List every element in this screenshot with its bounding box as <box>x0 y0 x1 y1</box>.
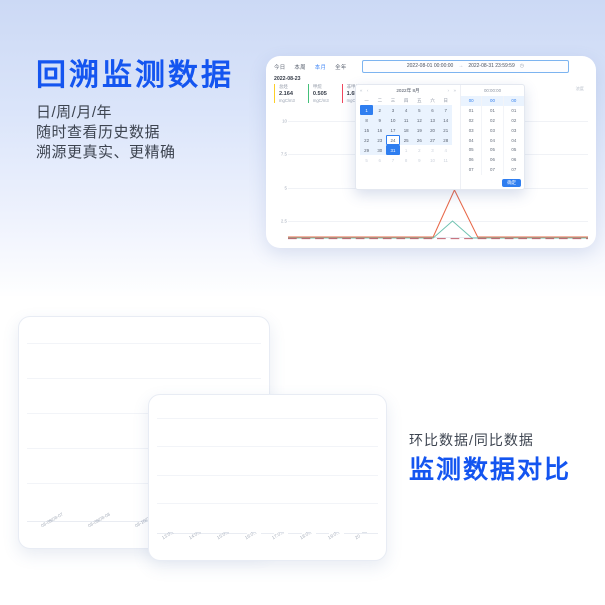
calendar-day-cell[interactable]: 24 <box>386 135 399 145</box>
calendar-week-row: 2930311234 <box>360 145 456 155</box>
calendar-day-cell[interactable]: 2 <box>373 105 386 115</box>
calendar-day-cell[interactable]: 6 <box>426 105 439 115</box>
calendar-weeks: 1234567891011121314151617181920212223242… <box>360 105 456 165</box>
calendar-day-cell[interactable]: 8 <box>400 155 413 165</box>
calendar-week-row: 567891011 <box>360 155 456 165</box>
calendar-day-cell[interactable]: 3 <box>426 145 439 155</box>
current-date-label: 2022-08-23 <box>274 76 301 82</box>
weekday-label: 二 <box>373 96 386 105</box>
calendar-day-cell[interactable]: 14 <box>439 115 452 125</box>
weekday-label: 六 <box>426 96 439 105</box>
bar-plot-b <box>157 405 378 534</box>
metric-name: 甲烷 <box>313 84 329 90</box>
weekday-label: 三 <box>386 96 399 105</box>
calendar-day-cell[interactable]: 15 <box>360 125 373 135</box>
time-option[interactable]: 04 <box>461 135 481 145</box>
y-tick: 5 <box>285 185 287 190</box>
calendar-day-cell[interactable]: 26 <box>413 135 426 145</box>
series-svg <box>288 188 588 240</box>
calendar-week-row: 1234567 <box>360 105 456 115</box>
time-option[interactable]: 05 <box>482 145 502 155</box>
time-option[interactable]: 04 <box>482 135 502 145</box>
chart-legend-note: 浓度 <box>576 86 584 92</box>
calendar-day-cell[interactable]: 1 <box>400 145 413 155</box>
calendar-day-cell[interactable]: 16 <box>373 125 386 135</box>
datetime-picker-popup[interactable]: « ‹ 2022年 8月 › » 一 二 三 四 五 六 日 <box>355 84 525 190</box>
calendar-day-cell[interactable]: 11 <box>439 155 452 165</box>
calendar-day-cell[interactable]: 28 <box>439 135 452 145</box>
hero-line-1: 日/周/月/年 <box>36 103 286 123</box>
next-year-icon[interactable]: » <box>454 88 456 93</box>
second-column[interactable]: 0001020304050607 <box>503 96 524 175</box>
time-option[interactable]: 02 <box>504 116 524 126</box>
y-tick: 2.5 <box>281 218 287 223</box>
calendar-title: 2022年 8月 <box>396 88 419 94</box>
comparison-text-block: 环比数据/同比数据 监测数据对比 <box>409 430 599 486</box>
metric-value: 2.164 <box>279 91 295 97</box>
metric-name: 总烃 <box>279 84 295 90</box>
calendar-day-cell[interactable]: 5 <box>413 105 426 115</box>
calendar-panel: « ‹ 2022年 8月 › » 一 二 三 四 五 六 日 <box>356 85 461 189</box>
plot-gridline <box>27 378 261 379</box>
axis-tick <box>362 532 367 533</box>
calendar-week-row: 22232425262728 <box>360 135 456 145</box>
time-option[interactable]: 06 <box>482 155 502 165</box>
time-option[interactable]: 00 <box>461 96 481 106</box>
calendar-day-cell[interactable]: 13 <box>426 115 439 125</box>
spike-line <box>288 190 588 237</box>
calendar-day-cell[interactable]: 30 <box>373 145 386 155</box>
calendar-day-cell[interactable]: 6 <box>373 155 386 165</box>
time-option[interactable]: 05 <box>504 145 524 155</box>
calendar-day-cell[interactable]: 1 <box>360 105 373 115</box>
calendar-header: « ‹ 2022年 8月 › » <box>356 85 460 96</box>
time-option[interactable]: 06 <box>461 155 481 165</box>
period-tabs: 今日 本周 本月 全年 <box>274 63 347 71</box>
calendar-day-cell[interactable]: 22 <box>360 135 373 145</box>
page-title: 回溯监测数据 <box>36 58 286 94</box>
time-option[interactable]: 07 <box>461 165 481 175</box>
calendar-day-cell[interactable]: 25 <box>400 135 413 145</box>
calendar-day-cell[interactable]: 29 <box>360 145 373 155</box>
calendar-grid: 一 二 三 四 五 六 日 12345678910111213141516171… <box>356 96 460 165</box>
time-option[interactable]: 00 <box>482 96 502 106</box>
calendar-day-cell[interactable]: 4 <box>439 145 452 155</box>
date-range-end: 2022-08-31 23:59:59 <box>468 63 514 69</box>
x-axis-labels-b: 13:0...14:0...15:0...16:0...17:0...18:0.… <box>157 534 378 560</box>
tab-week[interactable]: 本周 <box>294 63 305 71</box>
chart-series-curves <box>288 188 588 240</box>
calendar-week-row: 891011121314 <box>360 115 456 125</box>
time-option[interactable]: 06 <box>504 155 524 165</box>
tab-month[interactable]: 本月 <box>315 63 326 71</box>
tab-today[interactable]: 今日 <box>274 63 285 71</box>
plot-gridline <box>27 343 261 344</box>
chart-y-axis: 10 7.5 5 2.5 <box>272 102 288 240</box>
plot-gridline <box>157 503 378 504</box>
time-option[interactable]: 07 <box>482 165 502 175</box>
metric-card: 甲烷 0.505 mgC/m3 <box>308 84 329 103</box>
hero-line-2: 随时查看历史数据 <box>36 123 286 143</box>
clock-icon: ◷ <box>520 63 524 69</box>
prev-month-icon[interactable]: ‹ <box>367 88 368 93</box>
plot-gridline <box>157 446 378 447</box>
promo-page: 回溯监测数据 日/周/月/年 随时查看历史数据 溯源更真实、更精确 今日 本周 … <box>0 0 605 605</box>
calendar-day-cell[interactable]: 2 <box>413 145 426 155</box>
time-option[interactable]: 01 <box>504 106 524 116</box>
metric-card: 总烃 2.164 mgC/m3 <box>274 84 295 103</box>
calendar-day-cell[interactable]: 12 <box>413 115 426 125</box>
calendar-day-cell[interactable]: 18 <box>400 125 413 135</box>
calendar-day-cell[interactable]: 10 <box>426 155 439 165</box>
time-option[interactable]: 03 <box>504 125 524 135</box>
calendar-day-cell[interactable]: 19 <box>413 125 426 135</box>
calendar-day-cell[interactable]: 9 <box>413 155 426 165</box>
calendar-day-cell[interactable]: 10 <box>386 115 399 125</box>
calendar-day-cell[interactable]: 7 <box>439 105 452 115</box>
metric-value: 0.505 <box>313 91 329 97</box>
date-range-start: 2022-08-01 00:00:00 <box>407 63 453 69</box>
date-range-separator: → <box>458 63 463 69</box>
hero-subtitle: 日/周/月/年 随时查看历史数据 溯源更真实、更精确 <box>36 103 286 163</box>
calendar-day-cell[interactable]: 23 <box>373 135 386 145</box>
calendar-day-cell[interactable]: 31 <box>386 145 399 155</box>
time-option[interactable]: 00 <box>504 96 524 106</box>
calendar-week-row: 15161718192021 <box>360 125 456 135</box>
tab-year[interactable]: 全年 <box>335 63 346 71</box>
hero-text-block: 回溯监测数据 日/周/月/年 随时查看历史数据 溯源更真实、更精确 <box>36 58 286 163</box>
weekday-label: 日 <box>439 96 452 105</box>
calendar-day-cell[interactable]: 5 <box>360 155 373 165</box>
calendar-day-cell[interactable]: 3 <box>386 105 399 115</box>
plot-gridline <box>157 418 378 419</box>
calendar-day-cell[interactable]: 27 <box>426 135 439 145</box>
calendar-day-cell[interactable]: 8 <box>360 115 373 125</box>
time-panel: 00:00:00 0001020304050607 00010203040506… <box>461 85 524 189</box>
weekday-label: 四 <box>400 96 413 105</box>
calendar-day-cell[interactable]: 9 <box>373 115 386 125</box>
comparison-subtitle: 环比数据/同比数据 <box>409 430 599 450</box>
time-header: 00:00:00 <box>461 85 524 96</box>
prev-year-icon[interactable]: « <box>360 88 362 93</box>
calendar-day-cell[interactable]: 11 <box>400 115 413 125</box>
calendar-day-cell[interactable]: 21 <box>439 125 452 135</box>
time-option[interactable]: 07 <box>504 165 524 175</box>
bell-curve-line <box>288 221 588 238</box>
calendar-day-cell[interactable]: 7 <box>386 155 399 165</box>
time-option[interactable]: 03 <box>482 125 502 135</box>
time-columns: 0001020304050607 0001020304050607 000102… <box>461 96 524 175</box>
plot-gridline <box>157 475 378 476</box>
hero-line-3: 溯源更真实、更精确 <box>36 143 286 163</box>
weekday-row: 一 二 三 四 五 六 日 <box>360 96 456 105</box>
calendar-day-cell[interactable]: 4 <box>400 105 413 115</box>
time-option[interactable]: 04 <box>504 135 524 145</box>
weekday-label: 一 <box>360 96 373 105</box>
confirm-button[interactable]: 确定 <box>502 179 521 187</box>
calendar-day-cell[interactable]: 20 <box>426 125 439 135</box>
y-tick: 7.5 <box>281 152 287 157</box>
calendar-day-cell[interactable]: 17 <box>386 125 399 135</box>
hour-column[interactable]: 0001020304050607 <box>461 96 481 175</box>
next-month-icon[interactable]: › <box>448 88 449 93</box>
time-option[interactable]: 05 <box>461 145 481 155</box>
dashboard-card: 今日 本周 本月 全年 2022-08-01 00:00:00 → 2022-0… <box>266 56 596 248</box>
minute-column[interactable]: 0001020304050607 <box>481 96 502 175</box>
time-option[interactable]: 01 <box>482 106 502 116</box>
x-axis-label: 20 <box>354 533 361 540</box>
comparison-title: 监测数据对比 <box>409 454 599 486</box>
time-option[interactable]: 03 <box>461 125 481 135</box>
weekday-label: 五 <box>413 96 426 105</box>
time-option[interactable]: 02 <box>461 116 481 126</box>
comparison-chart-card-b: 13:0...14:0...15:0...16:0...17:0...18:0.… <box>148 394 387 561</box>
y-tick: 10 <box>282 119 287 124</box>
time-option[interactable]: 01 <box>461 106 481 116</box>
time-option[interactable]: 02 <box>482 116 502 126</box>
date-range-input[interactable]: 2022-08-01 00:00:00 → 2022-08-31 23:59:5… <box>362 60 569 73</box>
